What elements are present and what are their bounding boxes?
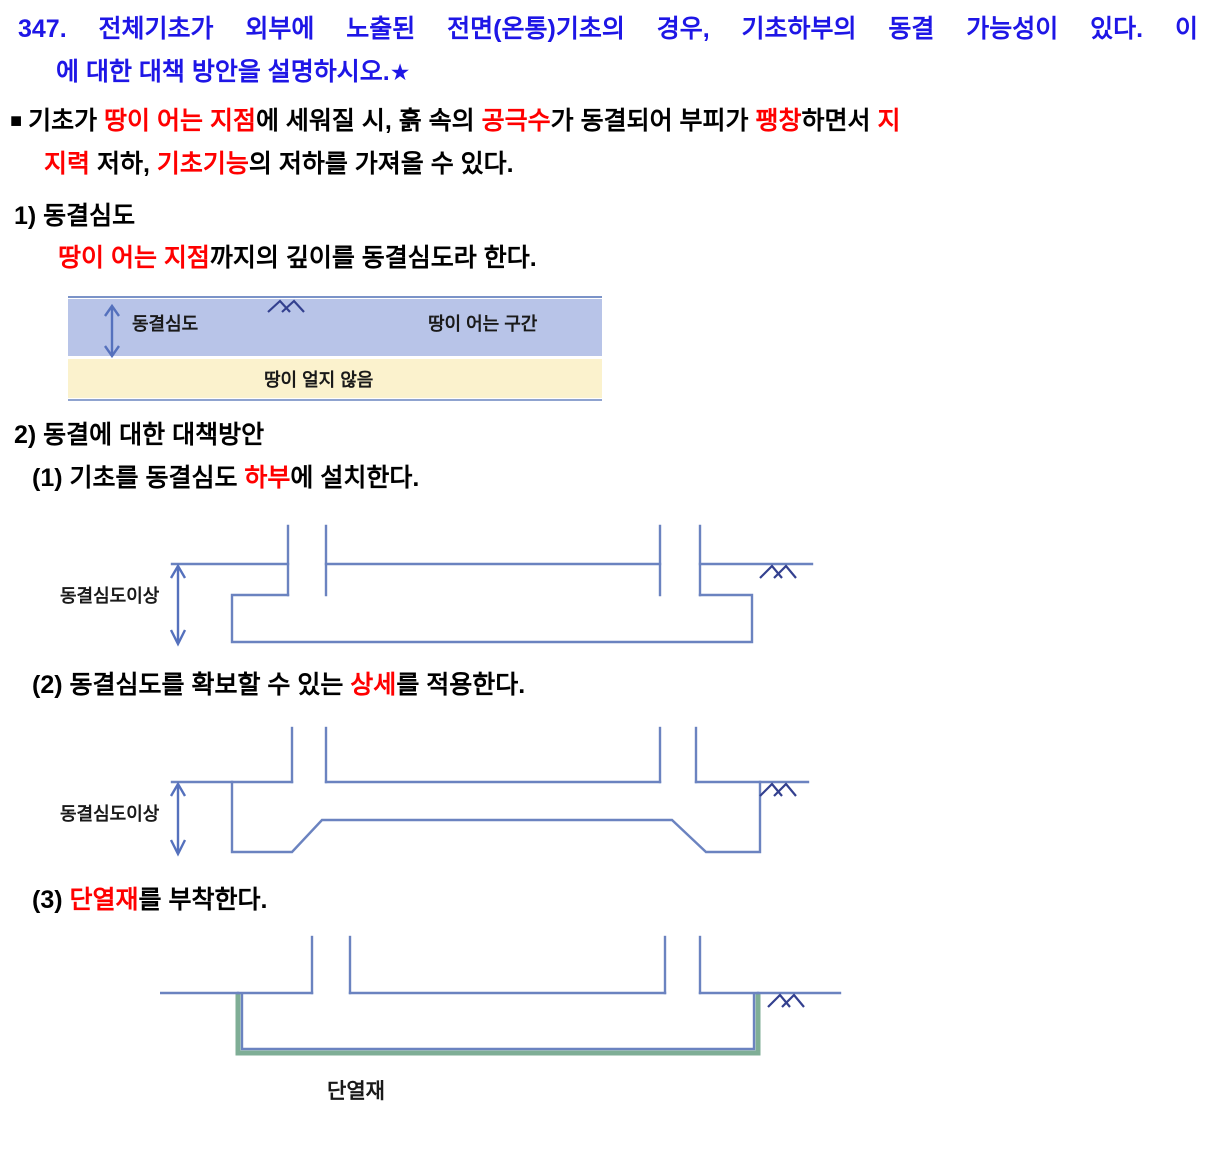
figure-footing-deep: 동결심도이상 bbox=[60, 520, 860, 660]
summary-paragraph: ■기초가 땅이 어는 지점에 세워질 시, 흙 속의 공극수가 동결되어 부피가… bbox=[10, 100, 1200, 186]
section-2-item-3: (3) 단열재를 부착한다. bbox=[32, 880, 267, 916]
soil-freeze-zone-label: 땅이 어는 구간 bbox=[428, 310, 537, 336]
soil-nofreeze-zone-label: 땅이 얼지 않음 bbox=[264, 366, 373, 392]
document-page: 347. 전체기초가 외부에 노출된 전면(온통)기초의 경우, 기초하부의 동… bbox=[0, 0, 1212, 1160]
figure-footing-insulated-svg bbox=[160, 925, 880, 1075]
soil-depth-label: 동결심도 bbox=[132, 310, 198, 336]
insulation-layer bbox=[238, 993, 758, 1053]
question-line-2: 에 대한 대책 방안을 설명하시오.★ bbox=[56, 51, 1198, 94]
figure-footing-deep-label: 동결심도이상 bbox=[60, 582, 159, 608]
section-2-item-1: (1) 기초를 동결심도 하부에 설치한다. bbox=[32, 458, 419, 494]
depth-arrow-icon bbox=[171, 784, 185, 854]
section-2-heading: 2) 동결에 대한 대책방안 bbox=[14, 415, 264, 451]
figure-footing-detail-label: 동결심도이상 bbox=[60, 800, 159, 826]
ground-hatch-icon bbox=[268, 301, 304, 312]
depth-arrow-icon bbox=[105, 306, 119, 356]
question-line-1: 347. 전체기초가 외부에 노출된 전면(온통)기초의 경우, 기초하부의 동… bbox=[18, 8, 1198, 51]
depth-arrow-icon bbox=[171, 566, 185, 644]
ground-hatch-icon bbox=[768, 995, 804, 1007]
question-title: 347. 전체기초가 외부에 노출된 전면(온통)기초의 경우, 기초하부의 동… bbox=[18, 8, 1198, 94]
section-2-item-2: (2) 동결심도를 확보할 수 있는 상세를 적용한다. bbox=[32, 665, 525, 701]
summary-line-1: ■기초가 땅이 어는 지점에 세워질 시, 흙 속의 공극수가 동결되어 부피가… bbox=[10, 100, 1200, 143]
ground-hatch-icon bbox=[760, 784, 796, 796]
section-1-heading: 1) 동결심도 bbox=[14, 196, 135, 232]
footing-outline bbox=[242, 995, 754, 1049]
figure-footing-detail-svg bbox=[60, 712, 860, 867]
ground-hatch-icon bbox=[760, 566, 796, 578]
footing-outline bbox=[232, 595, 752, 642]
star-icon: ★ bbox=[390, 59, 411, 85]
figure-footing-detail: 동결심도이상 bbox=[60, 712, 860, 867]
figure-soil-layers: 동결심도 땅이 어는 구간 땅이 얼지 않음 bbox=[68, 296, 602, 402]
square-bullet-icon: ■ bbox=[10, 110, 22, 132]
summary-line-2: 지력 저하, 기초기능의 저하를 가져올 수 있다. bbox=[44, 143, 1200, 186]
figure-footing-deep-svg bbox=[60, 520, 860, 660]
section-1-body: 땅이 어는 지점까지의 깊이를 동결심도라 한다. bbox=[58, 238, 537, 274]
figure-footing-insulated bbox=[160, 925, 880, 1075]
footing-chamfered-outline bbox=[232, 782, 760, 852]
figure-footing-insulated-caption: 단열재 bbox=[327, 1075, 385, 1105]
